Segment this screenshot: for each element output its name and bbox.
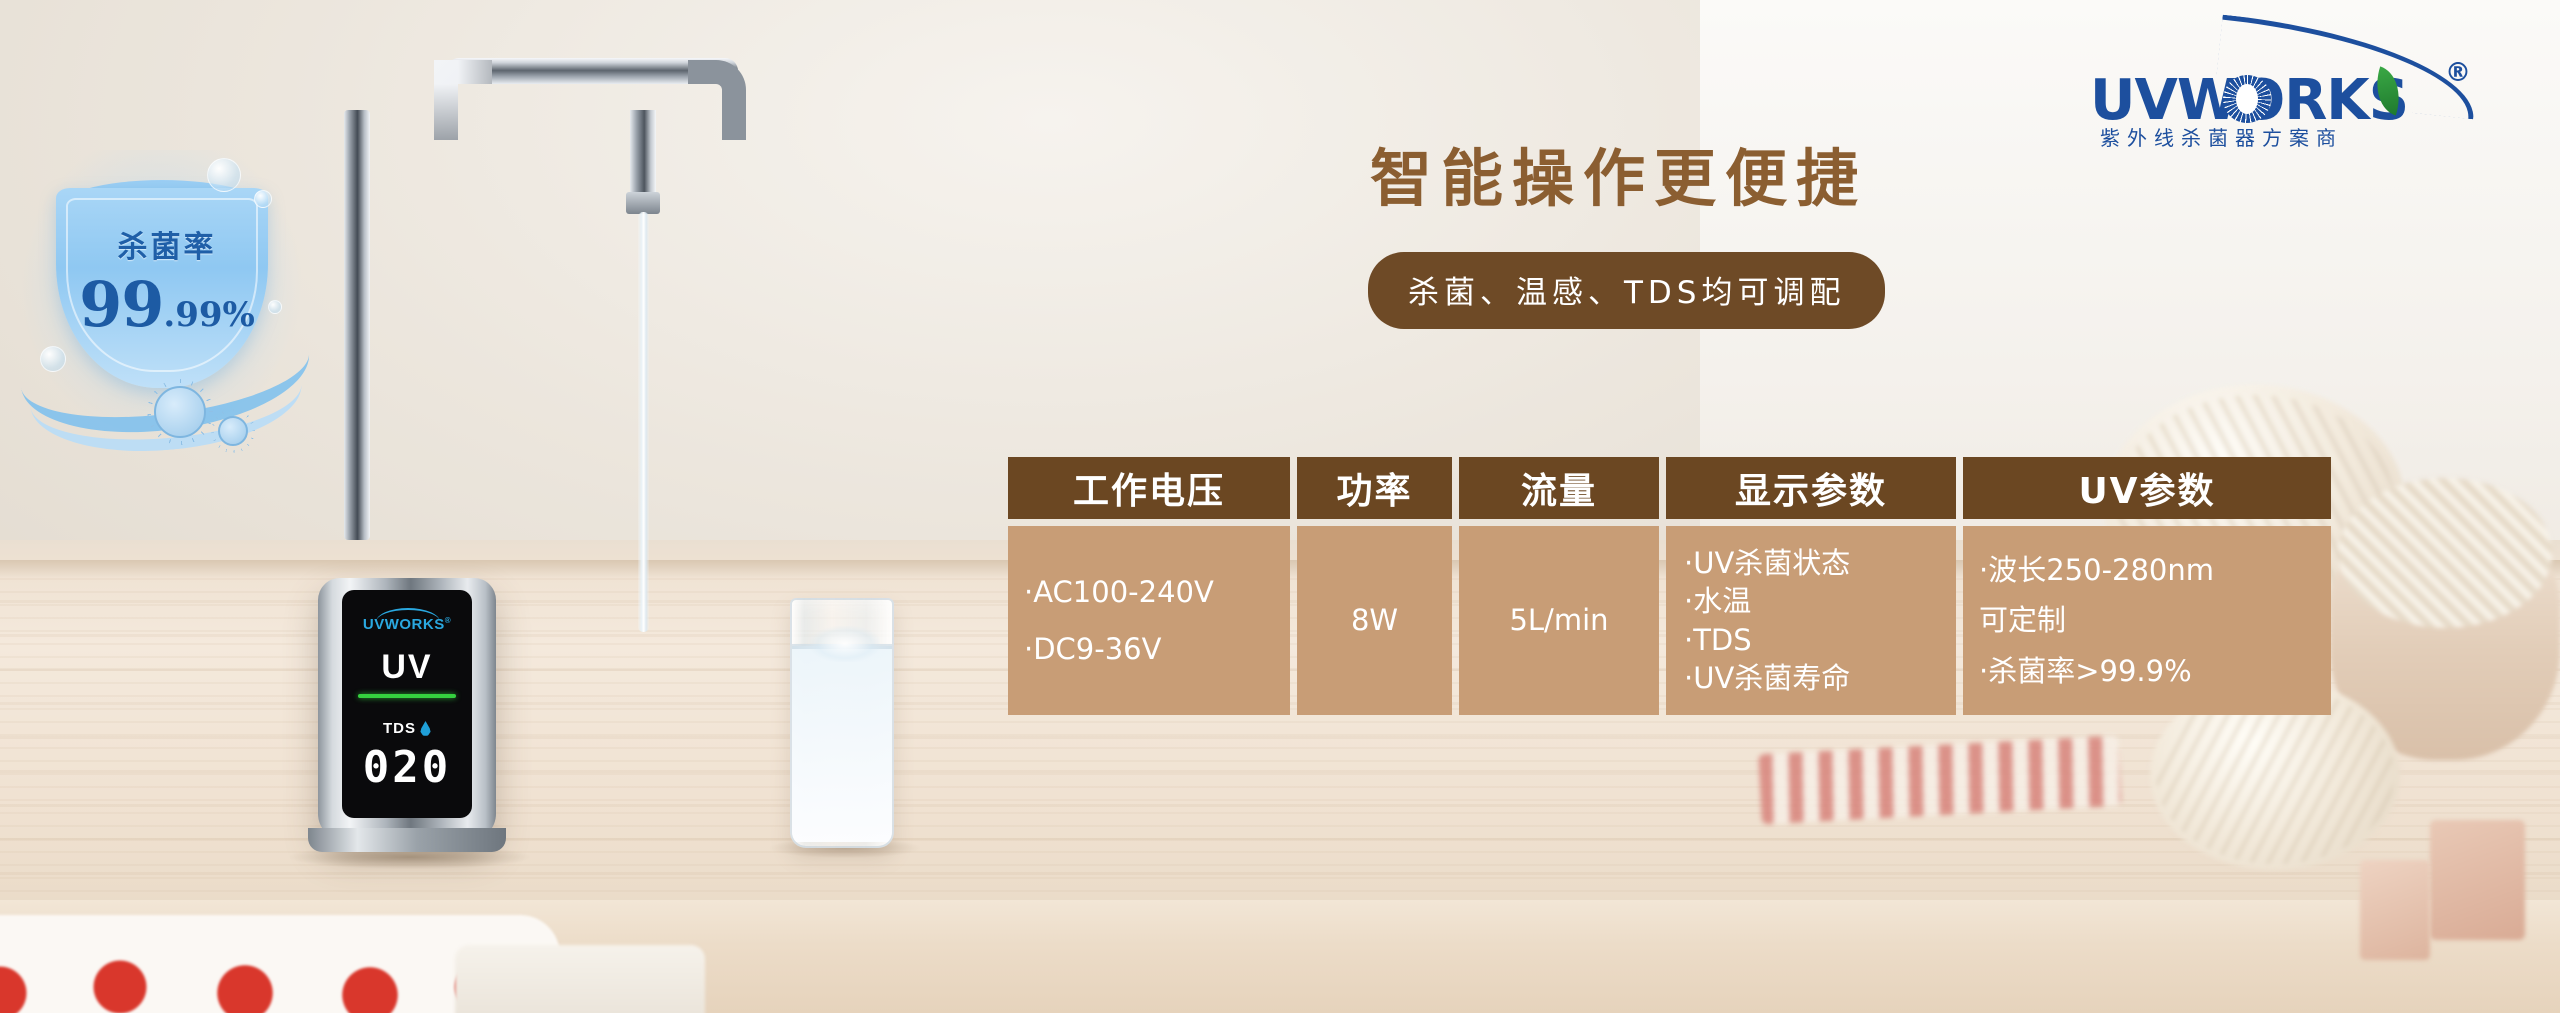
faucet-corner-right bbox=[688, 60, 746, 140]
spec-cell-flow: 5L/min bbox=[1459, 526, 1659, 715]
product-banner: UVWORKS® UV TDS 020 杀菌率 99.99% UVWORKS bbox=[0, 0, 2560, 1013]
spec-value-line: ·DC9-36V bbox=[1024, 630, 1274, 668]
brand-logo: UVWORKS ® 紫外线杀菌器方案商 bbox=[2090, 28, 2490, 138]
water-drop-icon bbox=[420, 721, 431, 736]
bubble-icon-1 bbox=[207, 158, 241, 192]
faucet-spout-tip bbox=[626, 192, 660, 214]
spec-cell-display: ·UV杀菌状态 ·水温 ·TDS ·UV杀菌寿命 bbox=[1666, 526, 1956, 715]
spec-cell-voltage: ·AC100-240V ·DC9-36V bbox=[1008, 526, 1290, 715]
spec-value-line: 5L/min bbox=[1509, 601, 1608, 639]
spec-header-voltage: 工作电压 bbox=[1008, 457, 1290, 519]
device-logo-registered: ® bbox=[445, 616, 451, 625]
device-logo-text: UVWORKS bbox=[363, 616, 445, 633]
uv-sunburst-icon bbox=[2223, 75, 2271, 123]
device-tds-value: 020 bbox=[342, 742, 472, 793]
spec-value-line: ·水温 bbox=[1682, 582, 1940, 620]
device-tds-row: TDS bbox=[342, 718, 472, 737]
device-display-screen[interactable]: UVWORKS® UV TDS 020 bbox=[342, 590, 472, 818]
spec-cell-uv: ·波长250-280nm 可定制 ·杀菌率>99.9% bbox=[1963, 526, 2331, 715]
sterilization-rate-badge: 杀菌率 99.99% bbox=[22, 150, 312, 450]
logo-tagline: 紫外线杀菌器方案商 bbox=[2100, 122, 2343, 151]
wood-block-prop-b bbox=[2360, 860, 2430, 960]
faucet-riser-left bbox=[344, 110, 370, 540]
device-brand-logo: UVWORKS® bbox=[342, 616, 472, 633]
faucet-corner-left bbox=[434, 60, 492, 140]
spec-value-line: ·UV杀菌状态 bbox=[1682, 544, 1940, 582]
spec-header-power: 功率 bbox=[1297, 457, 1452, 519]
spec-value-line: ·AC100-240V bbox=[1024, 573, 1274, 611]
spec-value-line: ·杀菌率>99.9% bbox=[1979, 652, 2315, 690]
bubble-icon-2 bbox=[254, 190, 272, 208]
spec-value-line: ·波长250-280nm bbox=[1979, 551, 2315, 589]
germ-icon-2 bbox=[218, 416, 248, 446]
plate-prop bbox=[455, 945, 705, 1013]
device-base bbox=[308, 828, 506, 852]
water-glass bbox=[790, 598, 894, 848]
water-splash bbox=[810, 626, 880, 662]
badge-value-integer: 99 bbox=[79, 268, 163, 341]
device-tds-label: TDS bbox=[383, 720, 416, 737]
faucet bbox=[330, 40, 670, 560]
spec-header-uv: UV参数 bbox=[1963, 457, 2331, 519]
spec-value-line: ·TDS bbox=[1682, 621, 1940, 659]
spec-header-display: 显示参数 bbox=[1666, 457, 1956, 519]
glass-water-fill bbox=[792, 646, 892, 842]
spec-header-flow: 流量 bbox=[1459, 457, 1659, 519]
bubble-icon-4 bbox=[268, 300, 282, 314]
faucet-arm bbox=[420, 50, 750, 170]
spec-value-line: ·UV杀菌寿命 bbox=[1682, 659, 1940, 697]
badge-value-decimal: .99% bbox=[163, 295, 254, 335]
device-status-bar bbox=[358, 694, 456, 698]
spec-value-line: 可定制 bbox=[1979, 601, 2315, 639]
spec-value-line: 8W bbox=[1351, 601, 1398, 639]
spec-table: 工作电压 功率 流量 显示参数 UV参数 ·AC100-240V ·DC9-36… bbox=[1008, 457, 2303, 715]
uv-sterilizer-device: UVWORKS® UV TDS 020 bbox=[318, 578, 496, 840]
wood-block-prop-a bbox=[2430, 820, 2525, 940]
feature-pill-badge: 杀菌、温感、TDS均可调配 bbox=[1368, 252, 1885, 329]
water-stream bbox=[638, 212, 649, 632]
germ-icon-1 bbox=[154, 386, 206, 438]
badge-label: 杀菌率 bbox=[22, 222, 312, 266]
faucet-spout-down-pipe bbox=[630, 110, 656, 205]
page-title: 智能操作更便捷 bbox=[1370, 128, 2010, 218]
bubble-icon-3 bbox=[40, 346, 66, 372]
device-mode-label: UV bbox=[342, 648, 472, 687]
spec-cell-power: 8W bbox=[1297, 526, 1452, 715]
registered-trademark-icon: ® bbox=[2445, 58, 2471, 88]
